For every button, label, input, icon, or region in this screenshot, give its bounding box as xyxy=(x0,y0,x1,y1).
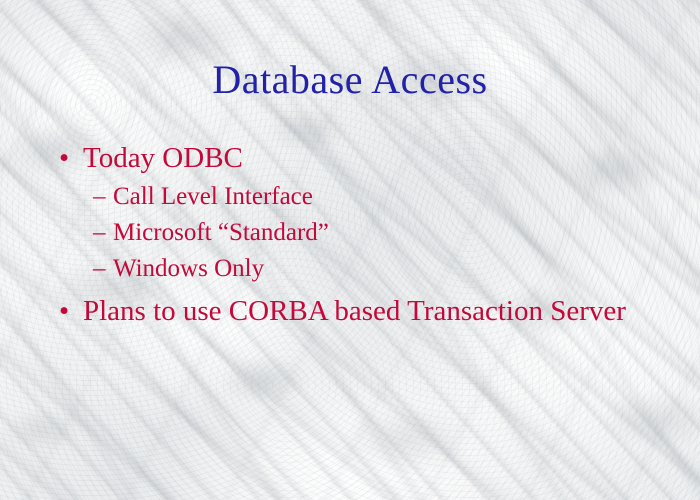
sub-bullet-item-windows-only: – Windows Only xyxy=(55,251,655,287)
bullet-item-today-odbc: • Today ODBC xyxy=(55,140,655,177)
bullet-item-corba-transaction-server: • Plans to use CORBA based Transaction S… xyxy=(55,293,655,330)
bullet-text: Today ODBC xyxy=(83,142,243,174)
sub-bullet-text: Call Level Interface xyxy=(113,183,313,210)
dash-marker-icon: – xyxy=(93,251,111,287)
sub-bullet-item-microsoft-standard: – Microsoft “Standard” xyxy=(55,215,655,251)
slide-content: Database Access • Today ODBC – Call Leve… xyxy=(0,0,700,500)
sub-bullet-list-odbc: – Call Level Interface – Microsoft “Stan… xyxy=(55,179,655,287)
bullet-marker-icon: • xyxy=(59,140,75,177)
sub-bullet-text: Windows Only xyxy=(113,255,264,282)
presentation-slide: Database Access • Today ODBC – Call Leve… xyxy=(0,0,700,500)
bullet-text: Plans to use CORBA based Transaction Ser… xyxy=(83,295,626,327)
sub-bullet-text: Microsoft “Standard” xyxy=(113,219,329,246)
sub-bullet-item-call-level-interface: – Call Level Interface xyxy=(55,179,655,215)
dash-marker-icon: – xyxy=(93,215,111,251)
slide-body: • Today ODBC – Call Level Interface – Mi… xyxy=(55,140,655,332)
dash-marker-icon: – xyxy=(93,179,111,215)
bullet-marker-icon: • xyxy=(59,293,75,330)
slide-title: Database Access xyxy=(0,57,700,103)
